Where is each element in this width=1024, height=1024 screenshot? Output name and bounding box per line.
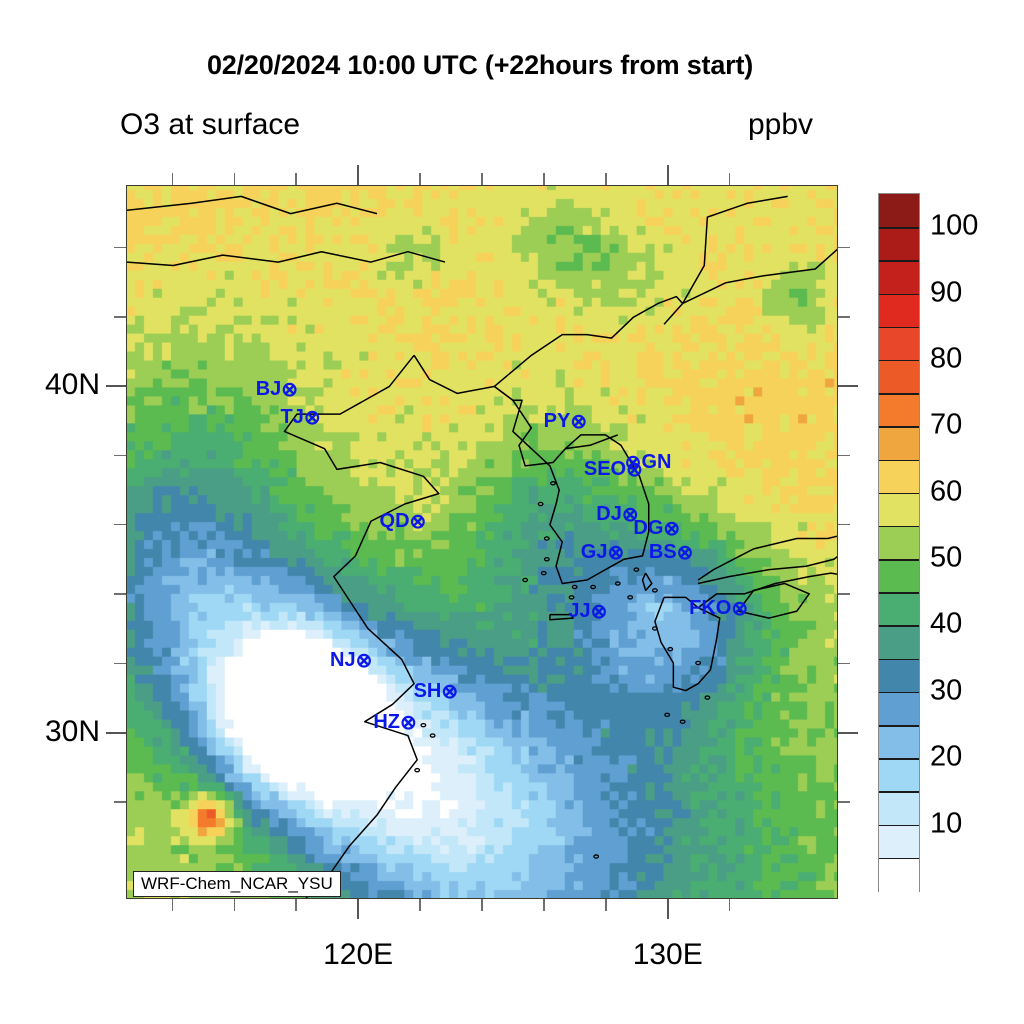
x-axis-tick: [419, 173, 421, 185]
colorbar-band: [879, 360, 919, 394]
colorbar-separator: [879, 559, 919, 561]
city-label-hz: HZ: [373, 711, 400, 733]
colorbar-separator: [879, 858, 919, 860]
colorbar-band: [879, 791, 919, 825]
city-label-nj: NJ: [330, 649, 356, 671]
colorbar-separator: [879, 692, 919, 694]
colorbar-tick-label-90: 90: [930, 276, 962, 309]
page-title: 02/20/2024 10:00 UTC (+22hours from star…: [0, 50, 960, 81]
colorbar-separator: [879, 493, 919, 495]
colorbar-band: [879, 227, 919, 261]
x-axis-tick: [543, 899, 545, 911]
x-axis-tick: [295, 899, 297, 911]
x-axis-label-120e: 120E: [298, 938, 418, 972]
y-axis-tick: [838, 732, 858, 734]
coastline-overlay: [127, 186, 837, 898]
city-point-icon: ⊗: [304, 408, 321, 428]
figure-root: 02/20/2024 10:00 UTC (+22hours from star…: [0, 0, 1024, 1024]
colorbar-tick-label-60: 60: [930, 475, 962, 508]
y-axis-tick: [838, 455, 850, 457]
city-label-seo: SEO: [584, 458, 626, 480]
y-axis-label-30n: 30N: [0, 715, 100, 749]
city-point-icon: ⊗: [591, 602, 608, 622]
y-axis-tick: [114, 801, 126, 803]
colorbar[interactable]: [878, 193, 920, 892]
city-point-icon: ⊗: [677, 543, 694, 563]
colorbar-separator: [879, 758, 919, 760]
colorbar-separator: [879, 360, 919, 362]
colorbar-tick-label-40: 40: [930, 608, 962, 641]
y-axis-tick: [114, 663, 126, 665]
x-axis-label-130e: 130E: [608, 938, 728, 972]
city-marker-gn: ⊗GN: [625, 452, 672, 472]
city-point-icon: ⊗: [281, 380, 298, 400]
city-label-sh: SH: [414, 680, 442, 702]
y-axis-tick: [838, 593, 850, 595]
colorbar-tick-label-70: 70: [930, 409, 962, 442]
x-axis-tick: [729, 173, 731, 185]
colorbar-band: [879, 825, 919, 859]
x-axis-tick: [605, 899, 607, 911]
city-label-bj: BJ: [256, 378, 282, 400]
city-point-icon: ⊗: [731, 599, 748, 619]
y-axis-tick: [838, 316, 850, 318]
colorbar-separator: [879, 260, 919, 262]
colorbar-separator: [879, 592, 919, 594]
colorbar-separator: [879, 791, 919, 793]
city-point-icon: ⊗: [570, 412, 587, 432]
colorbar-separator: [879, 825, 919, 827]
y-axis-tick: [114, 455, 126, 457]
colorbar-band: [879, 493, 919, 527]
y-axis-tick: [114, 593, 126, 595]
y-axis-tick: [838, 247, 850, 249]
colorbar-separator: [879, 659, 919, 661]
x-axis-tick: [543, 173, 545, 185]
colorbar-band: [879, 625, 919, 659]
colorbar-tick-label-30: 30: [930, 674, 962, 707]
city-label-qd: QD: [380, 510, 410, 532]
colorbar-tick-label-50: 50: [930, 542, 962, 575]
colorbar-separator: [879, 393, 919, 395]
colorbar-band: [879, 526, 919, 560]
colorbar-band: [879, 592, 919, 626]
colorbar-band: [879, 559, 919, 593]
city-label-dj: DJ: [596, 503, 622, 525]
y-axis-tick: [106, 385, 126, 387]
colorbar-tick-label-10: 10: [930, 807, 962, 840]
x-axis-tick: [172, 173, 174, 185]
colorbar-tick-label-100: 100: [930, 210, 978, 243]
x-axis-tick: [419, 899, 421, 911]
colorbar-band: [879, 659, 919, 693]
map-panel[interactable]: [126, 185, 838, 899]
x-axis-tick: [729, 899, 731, 911]
y-axis-tick: [838, 385, 858, 387]
y-axis-tick: [114, 316, 126, 318]
colorbar-separator: [879, 327, 919, 329]
colorbar-band: [879, 692, 919, 726]
city-point-icon: ⊗: [400, 713, 417, 733]
colorbar-band: [879, 327, 919, 361]
city-label-tj: TJ: [280, 406, 303, 428]
colorbar-band: [879, 725, 919, 759]
colorbar-separator: [879, 526, 919, 528]
city-label-gj: GJ: [581, 541, 608, 563]
units-label: ppbv: [748, 108, 813, 142]
y-axis-tick: [114, 247, 126, 249]
x-axis-tick: [234, 899, 236, 911]
y-axis-tick: [838, 801, 850, 803]
city-label-fko: FKO: [689, 597, 731, 619]
x-axis-tick: [481, 173, 483, 185]
x-axis-tick: [172, 899, 174, 911]
model-watermark: WRF-Chem_NCAR_YSU: [133, 871, 341, 897]
colorbar-separator: [879, 625, 919, 627]
y-axis-label-40n: 40N: [0, 368, 100, 402]
colorbar-separator: [879, 294, 919, 296]
colorbar-band: [879, 460, 919, 494]
colorbar-band: [879, 294, 919, 328]
colorbar-tick-label-80: 80: [930, 342, 962, 375]
y-axis-tick: [106, 732, 126, 734]
colorbar-separator: [879, 227, 919, 229]
variable-label: O3 at surface: [120, 108, 300, 142]
x-axis-tick: [357, 899, 359, 919]
colorbar-separator: [879, 460, 919, 462]
city-point-icon: ⊗: [607, 543, 624, 563]
y-axis-tick: [838, 524, 850, 526]
colorbar-separator: [879, 725, 919, 727]
colorbar-band: [879, 393, 919, 427]
city-point-icon: ⊗: [625, 453, 642, 473]
colorbar-band: [879, 758, 919, 792]
city-label-bs: BS: [649, 541, 677, 563]
y-axis-tick: [114, 524, 126, 526]
city-point-icon: ⊗: [663, 519, 680, 539]
colorbar-band: [879, 260, 919, 294]
x-axis-tick: [295, 173, 297, 185]
city-label-py: PY: [544, 410, 571, 432]
x-axis-tick: [357, 165, 359, 185]
colorbar-band: [879, 426, 919, 460]
city-point-icon: ⊗: [410, 512, 427, 532]
x-axis-tick: [234, 173, 236, 185]
y-axis-tick: [838, 663, 850, 665]
x-axis-tick: [667, 165, 669, 185]
city-label-jj: JJ: [568, 600, 590, 622]
city-point-icon: ⊗: [356, 651, 373, 671]
city-label-dg: DG: [633, 517, 663, 539]
x-axis-tick: [667, 899, 669, 919]
city-point-icon: ⊗: [441, 682, 458, 702]
x-axis-tick: [605, 173, 607, 185]
city-label-gn: GN: [641, 451, 671, 473]
colorbar-tick-label-20: 20: [930, 741, 962, 774]
colorbar-band: [879, 858, 919, 892]
colorbar-separator: [879, 426, 919, 428]
x-axis-tick: [481, 899, 483, 911]
colorbar-band: [879, 194, 919, 228]
